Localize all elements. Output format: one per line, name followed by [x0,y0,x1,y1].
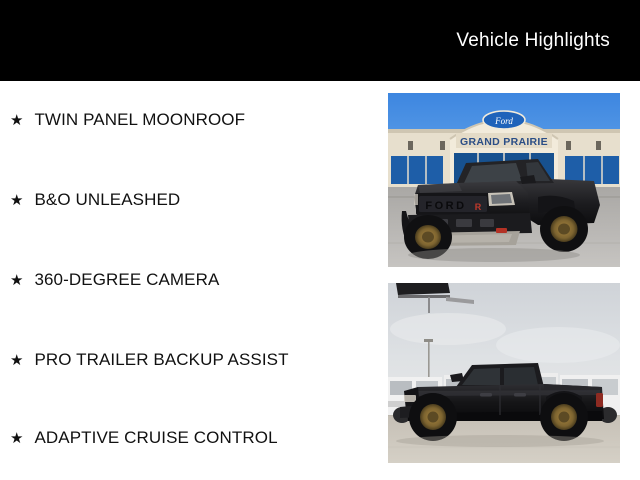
star-icon: ★ [10,353,23,368]
list-item: ★ 360-DEGREE CAMERA [10,271,219,288]
page-header: Vehicle Highlights [0,0,640,81]
highlight-label: PRO TRAILER BACKUP ASSIST [34,351,288,368]
highlight-label: 360-DEGREE CAMERA [34,271,219,288]
photo-side-profile-graphic [388,283,620,463]
star-icon: ★ [10,113,23,128]
content-area: ★ TWIN PANEL MOONROOF ★ B&O UNLEASHED ★ … [0,81,640,480]
svg-text:R: R [475,202,482,212]
page-title: Vehicle Highlights [456,30,610,52]
vehicle-photo-side-profile [388,283,620,463]
svg-text:Ford: Ford [494,116,513,126]
star-icon: ★ [10,193,23,208]
vehicle-photo-front-three-quarter: Ford GRAND PRAIRIE [388,93,620,267]
list-item: ★ PRO TRAILER BACKUP ASSIST [10,351,289,368]
photo-front-three-quarter-graphic: Ford GRAND PRAIRIE [388,93,620,267]
list-item: ★ B&O UNLEASHED [10,191,180,208]
svg-text:FORD: FORD [425,200,466,212]
list-item: ★ TWIN PANEL MOONROOF [10,111,245,128]
highlight-label: ADAPTIVE CRUISE CONTROL [34,429,277,446]
star-icon: ★ [10,273,23,288]
svg-text:GRAND PRAIRIE: GRAND PRAIRIE [460,136,548,148]
highlight-label: B&O UNLEASHED [34,191,180,208]
vehicle-highlights-list: ★ TWIN PANEL MOONROOF ★ B&O UNLEASHED ★ … [0,81,375,480]
highlight-label: TWIN PANEL MOONROOF [34,111,245,128]
star-icon: ★ [10,431,23,446]
list-item: ★ ADAPTIVE CRUISE CONTROL [10,429,278,446]
